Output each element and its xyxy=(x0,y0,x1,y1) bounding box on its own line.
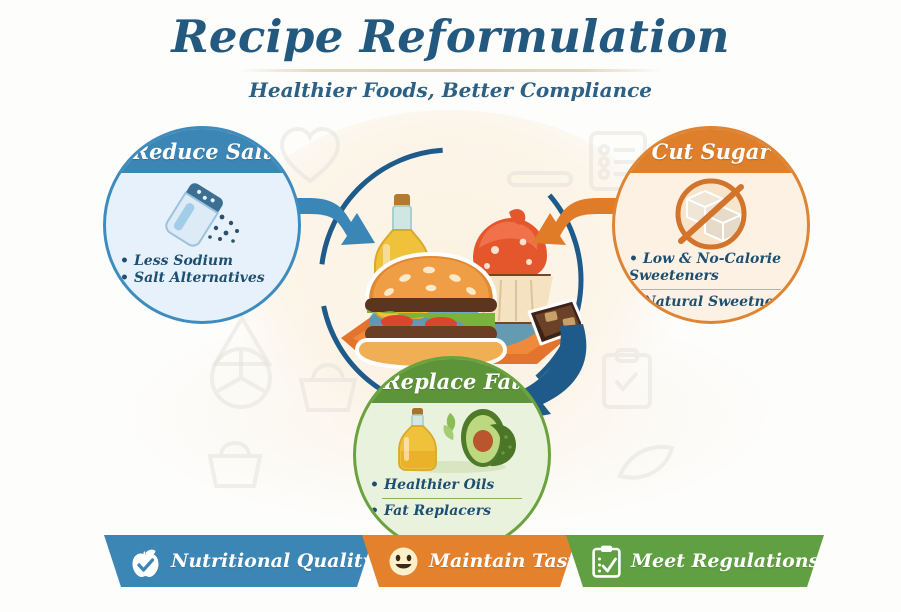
no-sugar-cubes-icon xyxy=(615,177,807,251)
basket-icon xyxy=(206,440,264,490)
outcome-banner-row: Nutritional Quality Maintain Taste xyxy=(104,535,824,590)
pillar-sugar-title: Cut Sugar xyxy=(652,139,771,164)
pillar-replace-fat[interactable]: Replace Fat xyxy=(353,356,551,554)
list-item: •Natural Sweetness xyxy=(629,294,793,311)
banner-nutritional-quality[interactable]: Nutritional Quality xyxy=(104,535,374,587)
pillar-salt-title: Reduce Salt xyxy=(132,139,273,164)
list-item: •Healthier Oils xyxy=(370,477,534,494)
oil-bottle-avocado-icon xyxy=(356,407,548,473)
pillar-reduce-salt[interactable]: Reduce Salt •Less Sodium •Salt Alternati… xyxy=(103,126,301,324)
bullet-divider xyxy=(641,289,781,290)
pillar-salt-header: Reduce Salt xyxy=(106,129,298,173)
pillar-fat-header: Replace Fat xyxy=(356,359,548,403)
pillar-salt-bullets: •Less Sodium •Salt Alternatives xyxy=(106,253,298,287)
pillar-cut-sugar[interactable]: Cut Sugar •Low & No-Calorie Sweeteners xyxy=(612,126,810,324)
pillar-fat-title: Replace Fat xyxy=(383,369,521,394)
banner-maintain-taste[interactable]: Maintain Taste xyxy=(362,535,577,587)
clipboard-check-icon xyxy=(592,545,621,578)
page-title: Recipe Reformulation xyxy=(0,8,901,66)
list-item: •Fat Replacers xyxy=(370,503,534,520)
list-item: •Less Sodium xyxy=(120,253,284,270)
banner-label: Meet Regulations xyxy=(631,550,819,572)
infographic-canvas: Recipe Reformulation Healthier Foods, Be… xyxy=(0,0,901,612)
smiley-face-icon xyxy=(388,546,419,577)
list-item: •Low & No-Calorie Sweeteners xyxy=(629,251,793,285)
apple-check-icon xyxy=(130,546,161,577)
pillar-sugar-header: Cut Sugar xyxy=(615,129,807,173)
banner-label: Nutritional Quality xyxy=(171,550,374,572)
header: Recipe Reformulation Healthier Foods, Be… xyxy=(0,8,901,105)
pillar-fat-bullets: •Healthier Oils •Fat Replacers xyxy=(356,477,548,520)
banner-label: Maintain Taste xyxy=(429,550,588,572)
salt-shaker-icon xyxy=(106,181,298,253)
burger-icon xyxy=(357,254,505,368)
bullet-divider xyxy=(382,498,522,499)
page-subtitle: Healthier Foods, Better Compliance xyxy=(0,75,901,105)
pillar-sugar-bullets: •Low & No-Calorie Sweeteners •Natural Sw… xyxy=(615,251,807,311)
title-divider xyxy=(238,69,663,72)
leaf-icon xyxy=(616,440,676,484)
clipboard-icon xyxy=(600,348,654,410)
banner-meet-regulations[interactable]: Meet Regulations xyxy=(566,535,824,587)
list-item: •Salt Alternatives xyxy=(120,270,284,287)
